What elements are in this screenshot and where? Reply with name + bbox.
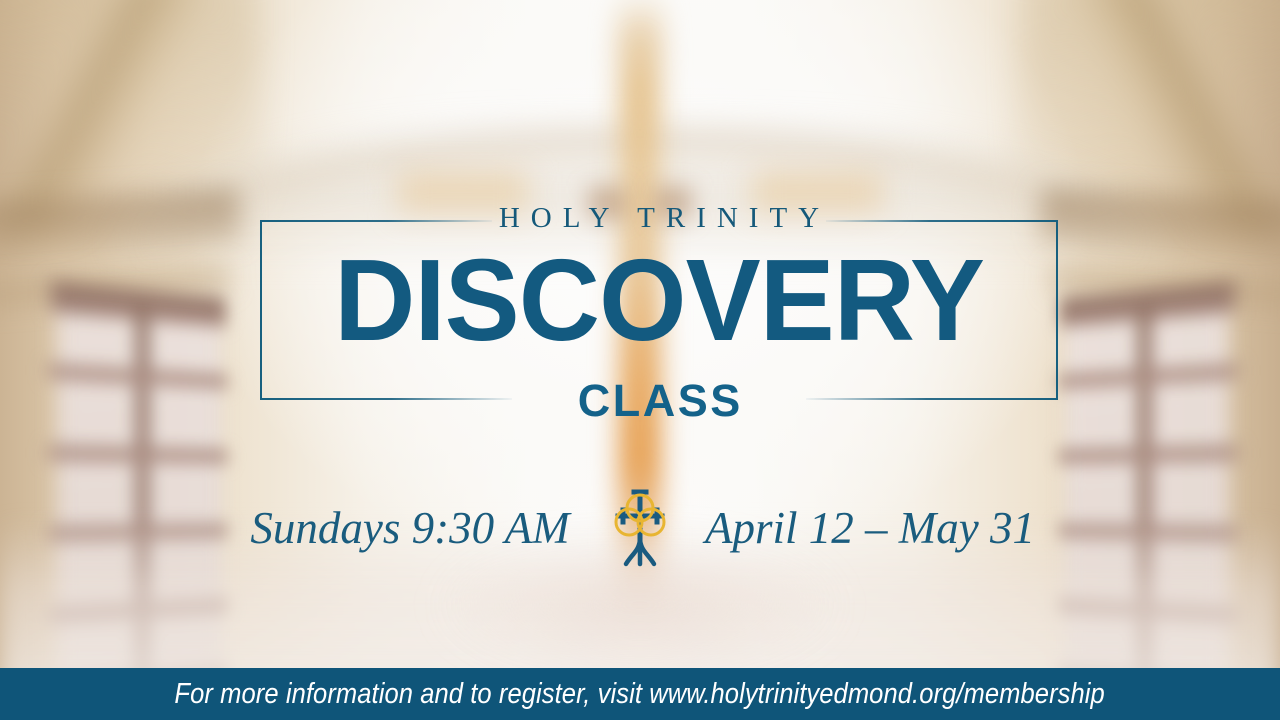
page-title: DISCOVERY [272, 242, 1046, 358]
frame-border-right [1056, 220, 1058, 400]
event-date-range: April 12 – May 31 [680, 502, 1060, 554]
church-name: HOLY TRINITY [260, 202, 1058, 235]
announcement-slide: HOLY TRINITY DISCOVERY CLASS Sundays 9:3… [0, 0, 1280, 720]
frame-border-left [260, 220, 262, 400]
headline-frame: HOLY TRINITY DISCOVERY CLASS [260, 220, 1058, 400]
registration-banner[interactable]: For more information and to register, vi… [0, 668, 1280, 720]
window-mullion-h2-left [49, 446, 228, 464]
event-schedule: Sundays 9:30 AM [220, 502, 600, 554]
trinity-cross-logo [600, 486, 680, 570]
registration-text: For more information and to register, vi… [175, 678, 1105, 711]
page-subtitle: CLASS [260, 378, 1058, 423]
window-mullion-h2-right [1058, 446, 1237, 464]
event-details-row: Sundays 9:30 AM [0, 498, 1280, 558]
